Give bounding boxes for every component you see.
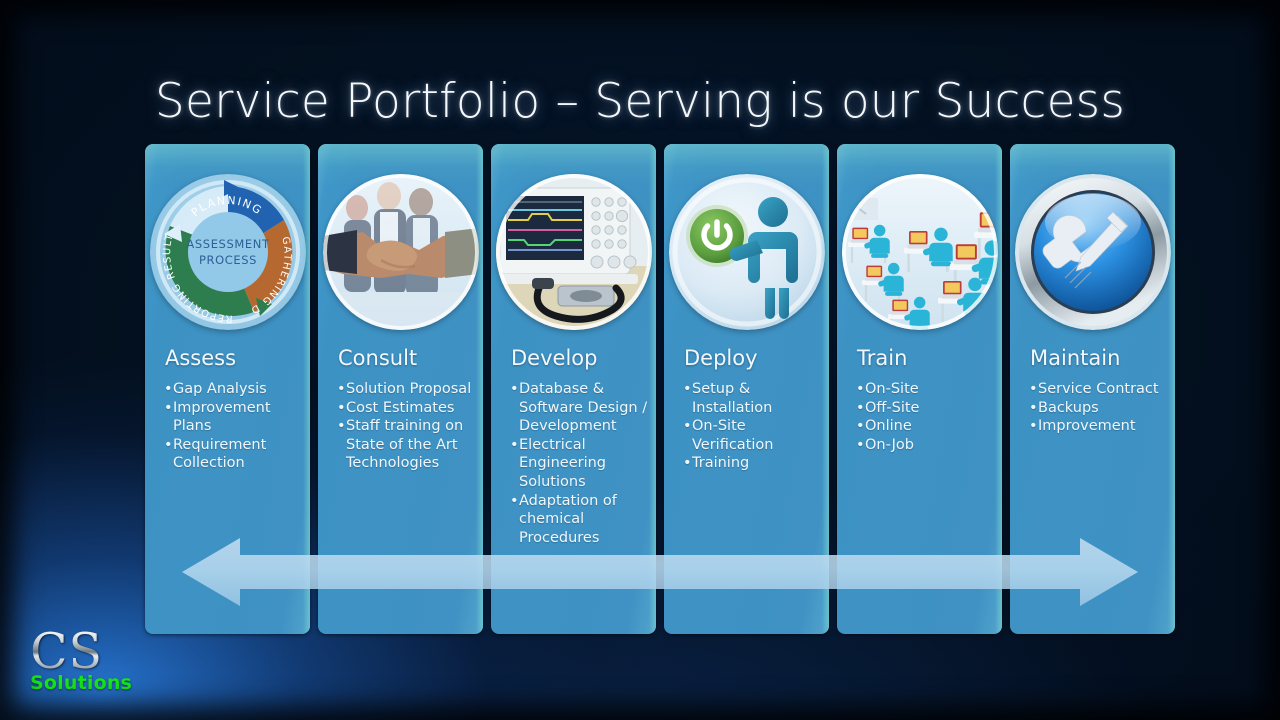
- page-title: Service Portfolio – Serving is our Succe…: [0, 74, 1280, 129]
- bullet-item: Service Contract: [1029, 380, 1167, 399]
- person-pressing-power-button-icon: [669, 174, 825, 330]
- bullet-item: Off-Site: [856, 399, 994, 418]
- svg-text:ASSESSMENT: ASSESSMENT: [186, 237, 270, 251]
- column-title: Deploy: [684, 346, 758, 370]
- column-bullet-list: Service ContractBackupsImprovement: [1029, 380, 1167, 436]
- column-title: Train: [857, 346, 907, 370]
- service-column-consult[interactable]: ConsultSolution ProposalCost EstimatesSt…: [318, 144, 483, 634]
- service-portfolio-columns: ASSESSMENT PROCESS PLANNING GATHERING DA…: [145, 144, 1175, 634]
- column-bullet-list: Solution ProposalCost EstimatesStaff tra…: [337, 380, 475, 473]
- bullet-item: Requirement Collection: [164, 436, 302, 473]
- bullet-item: Solution Proposal: [337, 380, 475, 399]
- column-title: Maintain: [1030, 346, 1120, 370]
- bullet-item: Online: [856, 417, 994, 436]
- column-title: Consult: [338, 346, 417, 370]
- bullet-item: Database & Software Design / Development: [510, 380, 648, 436]
- bullet-item: On-Job: [856, 436, 994, 455]
- bullet-item: On-Site Verification: [683, 417, 821, 454]
- bullet-item: Gap Analysis: [164, 380, 302, 399]
- column-bullet-list: Gap AnalysisImprovement PlansRequirement…: [164, 380, 302, 473]
- bullet-item: Adaptation of chemical Procedures: [510, 492, 648, 548]
- bullet-item: On-Site: [856, 380, 994, 399]
- bullet-item: Staff training on State of the Art Techn…: [337, 417, 475, 473]
- service-column-assess[interactable]: ASSESSMENT PROCESS PLANNING GATHERING DA…: [145, 144, 310, 634]
- logo-mark: CS: [30, 628, 132, 676]
- wrench-and-screwdriver-button-icon: [1015, 174, 1171, 330]
- logo: CS Solutions: [30, 628, 132, 693]
- service-column-maintain[interactable]: MaintainService ContractBackupsImproveme…: [1010, 144, 1175, 634]
- bullet-item: Improvement: [1029, 417, 1167, 436]
- bullet-item: Backups: [1029, 399, 1167, 418]
- oscilloscope-lab-equipment-photo-icon: [496, 174, 652, 330]
- svg-text:PROCESS: PROCESS: [198, 253, 256, 267]
- slide-canvas: Service Portfolio – Serving is our Succe…: [0, 0, 1280, 720]
- assessment-process-cycle-icon: ASSESSMENT PROCESS PLANNING GATHERING DA…: [150, 174, 306, 330]
- service-column-train[interactable]: TrainOn-SiteOff-SiteOnlineOn-Job: [837, 144, 1002, 634]
- bullet-item: Improvement Plans: [164, 399, 302, 436]
- service-column-deploy[interactable]: DeploySetup & InstallationOn-Site Verifi…: [664, 144, 829, 634]
- bullet-item: Cost Estimates: [337, 399, 475, 418]
- bullet-item: Electrical Engineering Solutions: [510, 436, 648, 492]
- column-bullet-list: Setup & InstallationOn-Site Verification…: [683, 380, 821, 473]
- bullet-item: Training: [683, 454, 821, 473]
- classroom-training-workstations-icon: [842, 174, 998, 330]
- column-bullet-list: Database & Software Design / Development…: [510, 380, 648, 547]
- service-column-develop[interactable]: DevelopDatabase & Software Design / Deve…: [491, 144, 656, 634]
- handshake-photo-icon: [323, 174, 479, 330]
- column-title: Develop: [511, 346, 597, 370]
- bullet-item: Setup & Installation: [683, 380, 821, 417]
- column-title: Assess: [165, 346, 236, 370]
- column-bullet-list: On-SiteOff-SiteOnlineOn-Job: [856, 380, 994, 454]
